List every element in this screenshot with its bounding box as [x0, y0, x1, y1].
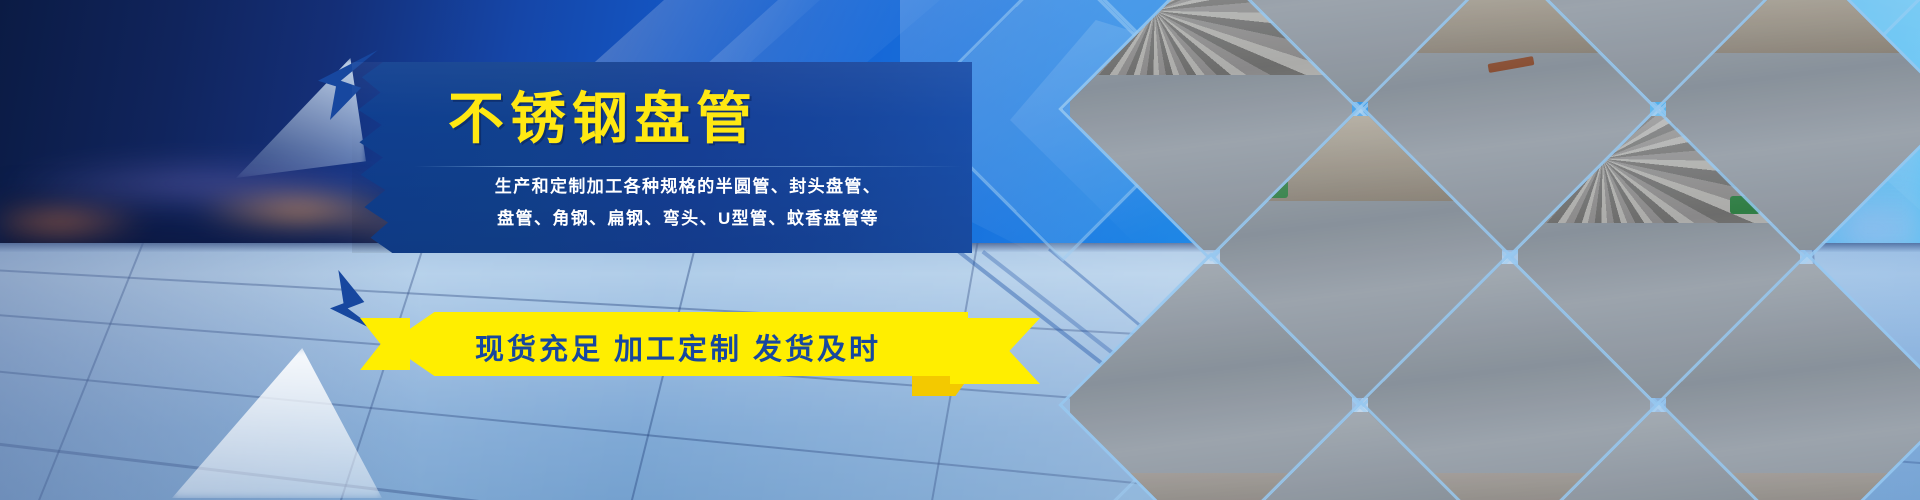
headline-panel: 不锈钢盘管 生产和定制加工各种规格的半圆管、封头盘管、 盘管、角钢、扁钢、弯头、… — [352, 62, 972, 253]
headline-panel-divider — [414, 166, 962, 167]
subtitle-line-2: 盘管、角钢、扁钢、弯头、U型管、蚊香盘管等 — [408, 204, 968, 229]
subtitle-line-1: 生产和定制加工各种规格的半圆管、封头盘管、 — [408, 172, 968, 197]
page-title: 不锈钢盘管 — [448, 74, 758, 155]
promo-banner: 不锈钢盘管 生产和定制加工各种规格的半圆管、封头盘管、 盘管、角钢、扁钢、弯头、… — [0, 0, 1920, 500]
ribbon-text: 现货充足 加工定制 发货及时 — [388, 326, 968, 368]
highlights-ribbon: 现货充足 加工定制 发货及时 — [388, 312, 968, 376]
product-photo-collage — [1020, 0, 1920, 500]
